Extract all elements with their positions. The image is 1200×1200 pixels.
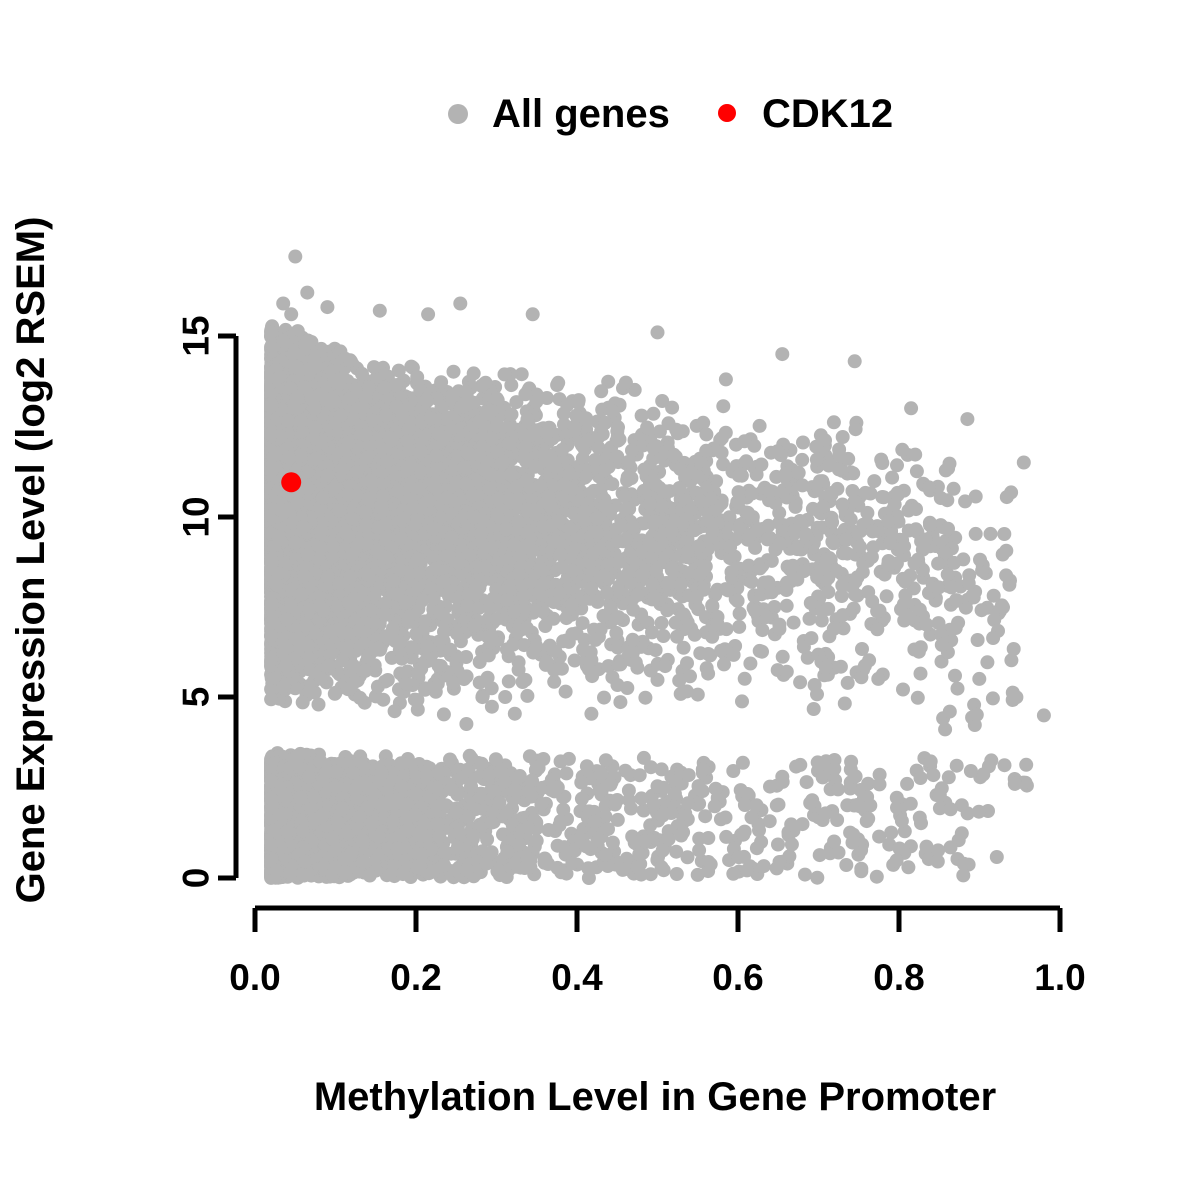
data-point: [872, 830, 886, 844]
data-point: [635, 409, 649, 423]
data-point: [719, 811, 733, 825]
data-point: [914, 667, 928, 681]
data-point: [599, 753, 613, 767]
data-point: [437, 707, 451, 721]
data-point: [990, 850, 1004, 864]
data-point: [911, 691, 925, 705]
data-point: [838, 697, 852, 711]
data-point: [508, 707, 522, 721]
data-point: [743, 657, 757, 671]
data-point: [793, 675, 807, 689]
data-point: [896, 683, 910, 697]
data-point: [1000, 490, 1014, 504]
data-point: [885, 471, 899, 485]
data-point: [870, 870, 884, 884]
data-point: [735, 694, 749, 708]
data-point: [867, 474, 881, 488]
data-points-layer: [264, 250, 1051, 886]
data-point: [787, 616, 801, 630]
data-point: [780, 599, 794, 613]
scatter-plot-figure: 15 10 5 0 0.0 0.2 0.4 0.6 0.8 1.0 Gene E…: [0, 0, 1200, 1200]
data-point: [908, 448, 922, 462]
data-point: [776, 650, 790, 664]
data-point: [874, 453, 888, 467]
data-point: [807, 702, 821, 716]
data-point: [984, 527, 998, 541]
plot-canvas: 15 10 5 0 0.0 0.2 0.4 0.6 0.8 1.0 Gene E…: [0, 0, 1200, 1200]
data-point: [800, 775, 814, 789]
data-point: [547, 675, 561, 689]
data-point: [597, 691, 611, 705]
data-point: [890, 458, 904, 472]
